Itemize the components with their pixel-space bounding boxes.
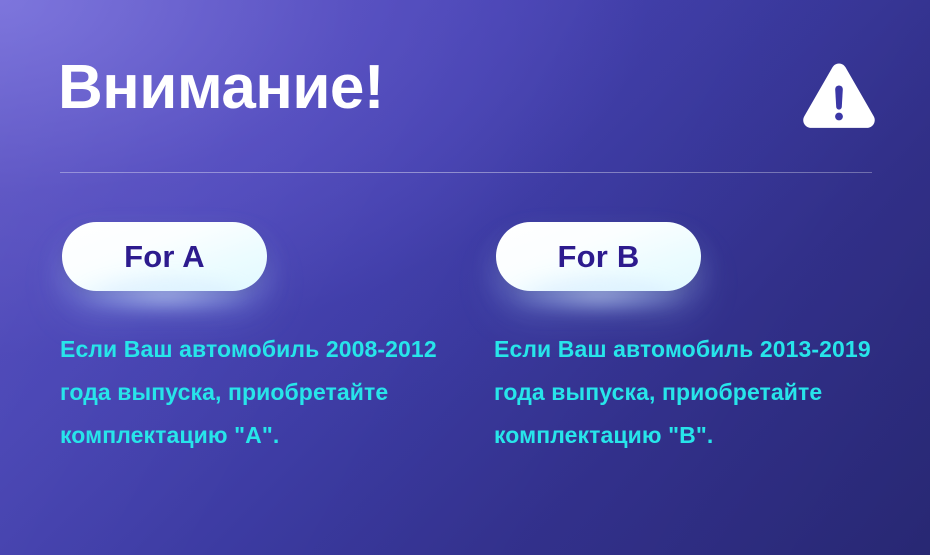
for-b-button[interactable]: For B bbox=[496, 222, 701, 291]
for-b-button-label: For B bbox=[558, 241, 640, 272]
option-column-a: For A bbox=[62, 222, 267, 291]
option-b-description: Если Ваш автомобиль 2013-2019 года выпус… bbox=[494, 328, 894, 457]
warning-triangle-icon bbox=[800, 60, 878, 132]
option-column-b: For B bbox=[496, 222, 701, 291]
for-a-button[interactable]: For A bbox=[62, 222, 267, 291]
page-title: Внимание! bbox=[58, 57, 384, 119]
notice-banner: Внимание! For A For B Если Ваш автомобил… bbox=[0, 0, 930, 555]
for-a-button-label: For A bbox=[124, 241, 205, 272]
header-divider bbox=[60, 172, 872, 173]
option-a-description: Если Ваш автомобиль 2008-2012 года выпус… bbox=[60, 328, 460, 457]
